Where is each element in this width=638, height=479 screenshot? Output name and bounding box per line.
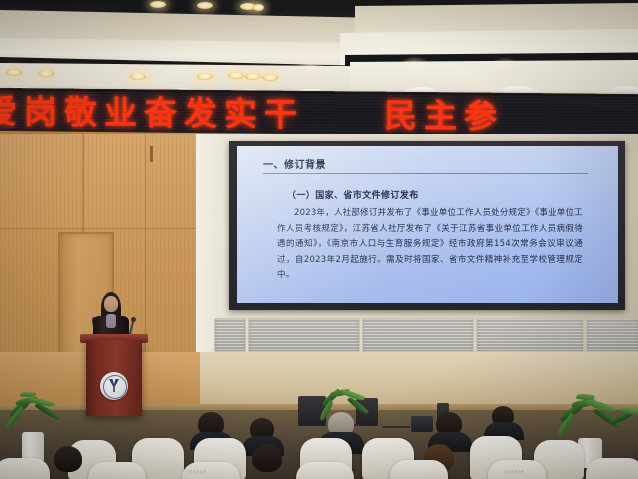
downlight-icon — [228, 72, 244, 79]
acoustic-panel-row — [214, 318, 638, 352]
downlight-icon — [38, 70, 54, 77]
slide-title-rule — [263, 173, 588, 174]
audience-chair — [296, 462, 354, 479]
chair-cover-text: 江苏省南京市 — [504, 470, 524, 474]
wall-seam — [82, 134, 84, 234]
downlight-icon — [262, 74, 278, 81]
downlight-icon — [197, 73, 213, 80]
downlight-icon — [6, 69, 22, 76]
audience-chair — [88, 462, 146, 479]
acoustic-panel — [248, 318, 360, 352]
acoustic-panel — [586, 318, 638, 352]
downlight-icon — [150, 1, 166, 8]
audience-chair — [390, 460, 448, 479]
projection-screen: 一、修订背景 （一）国家、省市文件修订发布 2023年，人社部修订并发布了《事业… — [237, 146, 618, 303]
light-glow — [490, 57, 520, 73]
light-glow — [295, 58, 325, 74]
av-cable — [382, 426, 410, 428]
downlight-icon — [197, 2, 213, 9]
slide-body-text: 2023年，人社部修订并发布了《事业单位工作人员处分规定》《事业单位工作人员考核… — [277, 206, 583, 284]
slide-title: 一、修订背景 — [263, 156, 326, 171]
acoustic-panel — [476, 318, 584, 352]
audience-chair — [0, 458, 50, 479]
wall-hook-icon — [150, 146, 153, 162]
console-unit — [411, 416, 433, 432]
presentation-slide: 一、修订背景 （一）国家、省市文件修订发布 2023年，人社部修订并发布了《事业… — [237, 146, 618, 303]
speaker-shirt — [106, 314, 116, 328]
downlight-icon — [130, 73, 146, 80]
speaker-face — [105, 299, 117, 312]
audience-head — [54, 446, 82, 472]
slide-subtitle: （一）国家、省市文件修订发布 — [287, 188, 419, 201]
acoustic-panel — [214, 318, 246, 352]
conference-hall-photo: 爱岗敬业奋发实干 民主参 一、修订背景 （一）国家、省市文件修订发布 2023年… — [0, 0, 638, 479]
wall-seam — [145, 134, 146, 354]
chair-cover-text: 江苏省南京市 — [186, 470, 206, 474]
acoustic-panel — [362, 318, 474, 352]
light-glow — [400, 56, 430, 72]
school-crest-ring — [103, 375, 127, 399]
downlight-icon — [245, 73, 261, 80]
microphone-head-icon — [131, 317, 136, 322]
audience-chair — [586, 458, 638, 479]
wall-seam — [0, 228, 200, 229]
downlight-icon — [253, 4, 264, 11]
audience-head — [252, 444, 282, 472]
